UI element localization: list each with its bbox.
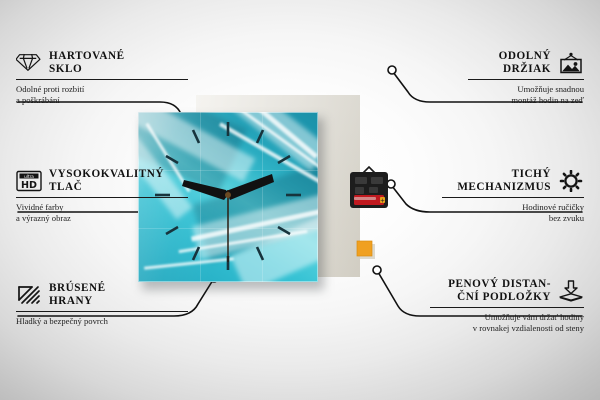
feature-high-quality-print[interactable]: ultra HD VYSOKOKVALITNÝ TLAČ Vividné far… — [16, 168, 188, 223]
clock-center-cap — [225, 192, 231, 198]
connector-dot-durable-holder — [388, 66, 396, 74]
foam-spacer-pad — [356, 240, 376, 260]
ground-edges-icon — [16, 284, 42, 306]
feature-tempered-glass[interactable]: HARTOVANÉ SKLO Odolné proti rozbití a po… — [16, 50, 188, 105]
divider — [430, 307, 584, 308]
feature-header: HARTOVANÉ SKLO — [16, 50, 188, 76]
diamond-icon — [16, 52, 42, 74]
gear-icon — [558, 170, 584, 192]
feature-desc: Odolné proti rozbití a poškrábání — [16, 84, 188, 105]
feature-desc: Vividné farby a výrazný obraz — [16, 202, 188, 223]
divider — [468, 79, 584, 80]
feature-silent-mechanism[interactable]: TICHÝ MECHANIZMUS — [442, 168, 584, 223]
svg-text:+: + — [380, 198, 385, 205]
feature-ground-edges[interactable]: BRÚSENÉ HRANY Hladký a bezpečný povrch — [16, 282, 188, 327]
infographic-canvas: + HARTOVANÉ SKLO Odolné proti rozbití a … — [0, 0, 600, 400]
feature-title: VYSOKOKVALITNÝ TLAČ — [49, 168, 164, 194]
feature-desc: Umožňuje vám držať hodiny v rovnakej vzd… — [430, 312, 584, 333]
feature-header: ODOLNÝ DRŽIAK — [468, 50, 584, 76]
press-down-icon — [558, 280, 584, 302]
ultra-hd-icon: ultra HD — [16, 170, 42, 192]
clock-mechanism: + — [346, 166, 392, 211]
feature-header: BRÚSENÉ HRANY — [16, 282, 188, 308]
picture-hanger-icon — [558, 52, 584, 74]
feature-title: TICHÝ MECHANIZMUS — [457, 168, 551, 194]
svg-text:HD: HD — [21, 180, 37, 191]
feature-header: ultra HD VYSOKOKVALITNÝ TLAČ — [16, 168, 188, 194]
feature-title: PENOVÝ DISTAN- ČNÍ PODLOŽKY — [448, 278, 551, 304]
divider — [16, 79, 188, 80]
divider — [442, 197, 584, 198]
minute-hand — [226, 174, 274, 200]
feature-title: ODOLNÝ DRŽIAK — [499, 50, 551, 76]
feature-header: PENOVÝ DISTAN- ČNÍ PODLOŽKY — [430, 278, 584, 304]
feature-title: BRÚSENÉ HRANY — [49, 282, 106, 308]
feature-desc: Hodinové ručičky bez zvuku — [442, 202, 584, 223]
feature-title: HARTOVANÉ SKLO — [49, 50, 125, 76]
connector-dot-foam-spacers — [373, 266, 381, 274]
hour-hand — [182, 180, 228, 200]
svg-text:ultra: ultra — [24, 174, 34, 179]
feature-desc: Umožňuje snadnou montáž hodin na zeď — [468, 84, 584, 105]
divider — [16, 197, 188, 198]
feature-durable-holder[interactable]: ODOLNÝ DRŽIAK Umožňuje snadnou montáž ho… — [468, 50, 584, 105]
feature-header: TICHÝ MECHANIZMUS — [442, 168, 584, 194]
feature-foam-spacers[interactable]: PENOVÝ DISTAN- ČNÍ PODLOŽKY Umožňuje vám… — [430, 278, 584, 333]
divider — [16, 311, 188, 312]
feature-desc: Hladký a bezpečný povrch — [16, 316, 188, 327]
